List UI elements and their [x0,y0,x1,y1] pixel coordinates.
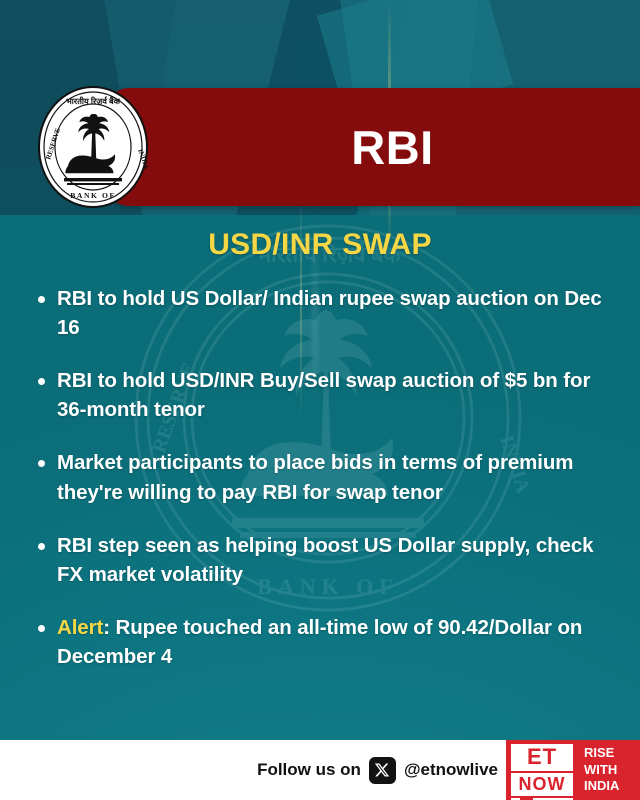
etnow-logo[interactable]: ET NOW ETNOW.IN RISE WITH INDIA [506,740,640,800]
bullet-dot-icon [38,625,45,632]
bullet-dot-icon [38,460,45,467]
follow-us-group: Follow us on @etnowlive [257,757,498,784]
list-item: RBI to hold USD/INR Buy/Sell swap auctio… [38,366,618,424]
follow-label: Follow us on [257,760,361,780]
list-item: RBI to hold US Dollar/ Indian rupee swap… [38,284,618,342]
bullet-text-alert: Alert: Rupee touched an all-time low of … [57,613,618,671]
alert-label: Alert [57,616,103,639]
bullet-dot-icon [38,543,45,550]
bullet-text: RBI to hold USD/INR Buy/Sell swap auctio… [57,366,618,424]
social-handle[interactable]: @etnowlive [404,760,498,780]
list-item: Market participants to place bids in ter… [38,448,618,506]
bullet-text: Market participants to place bids in ter… [57,448,618,506]
tagline-line-3: INDIA [584,778,640,795]
subtitle: USD/INR SWAP [0,228,640,262]
etnow-now-text: NOW [511,773,573,796]
list-item-alert: Alert: Rupee touched an all-time low of … [38,613,618,671]
etnow-et-text: ET [511,744,573,771]
bullet-dot-icon [38,378,45,385]
x-twitter-icon[interactable] [369,757,396,784]
bullet-list: RBI to hold US Dollar/ Indian rupee swap… [38,284,618,695]
rbi-seal-logo-icon: भारतीय रिज़र्व बैंक BANK OF RESERVE INDI… [38,86,148,208]
bullet-text: RBI step seen as helping boost US Dollar… [57,531,618,589]
bullet-text: RBI to hold US Dollar/ Indian rupee swap… [57,284,618,342]
bullet-dot-icon [38,296,45,303]
header-banner: RBI [105,88,640,206]
svg-text:BANK OF: BANK OF [70,191,116,200]
tagline-line-2: WITH [584,762,640,779]
list-item: RBI step seen as helping boost US Dollar… [38,531,618,589]
alert-body: : Rupee touched an all-time low of 90.42… [57,616,582,668]
tagline-line-1: RISE [584,745,640,762]
etnow-logo-left: ET NOW ETNOW.IN [506,740,578,800]
footer-bar: Follow us on @etnowlive ET NOW ETNOW.IN … [0,740,640,800]
etnow-tagline: RISE WITH INDIA [578,740,640,800]
infographic-card: भारतीय रिज़र्व बैंक BANK OF RESERVE INDI… [0,0,640,800]
svg-text:भारतीय रिज़र्व बैंक: भारतीय रिज़र्व बैंक [66,96,121,106]
page-title: RBI [311,120,433,175]
